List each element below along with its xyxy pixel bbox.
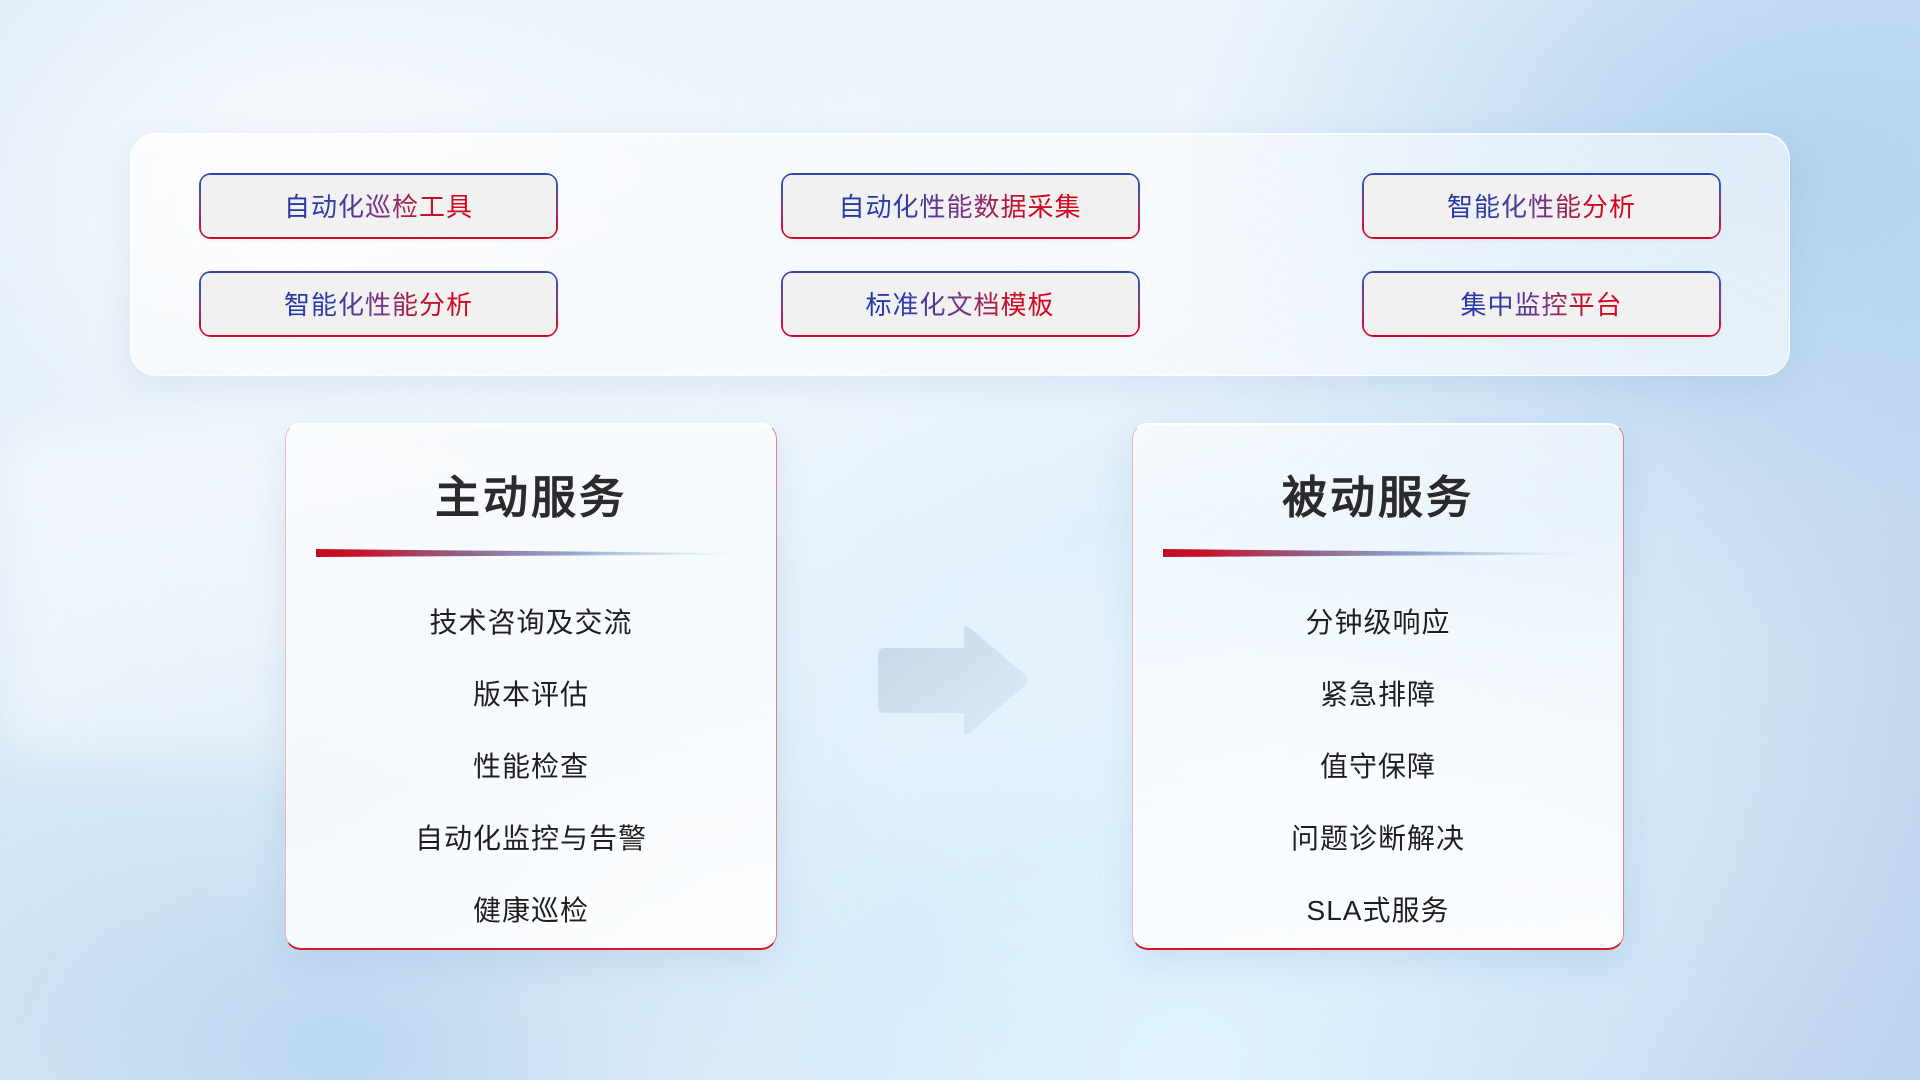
list-item: 问题诊断解决 [1133,803,1623,875]
capability-pill-label: 标准化文档模板 [865,285,1054,322]
capability-pill-standardized-document-template[interactable]: 标准化文档模板 [781,271,1140,337]
card-title-divider [316,548,746,557]
service-card-proactive: 主动服务 技术咨询及交流 版本评估 性能检查 自动化监控与告警 健康巡检 [285,423,777,950]
capability-pill-intelligent-performance-analysis-a[interactable]: 智能化性能分析 [1362,173,1721,239]
capability-panel: 自动化巡检工具 自动化性能数据采集 智能化性能分析 智能化性能分析 标准化文档模… [130,133,1790,376]
list-item: 版本评估 [286,659,776,731]
capability-pill-label: 智能化性能分析 [1447,187,1636,224]
list-item: SLA式服务 [1133,875,1623,947]
card-title-divider [1163,548,1593,557]
card-title: 被动服务 [1133,461,1623,526]
capability-pill-centralized-monitoring-platform[interactable]: 集中监控平台 [1362,271,1721,337]
capability-pill-intelligent-performance-analysis-b[interactable]: 智能化性能分析 [199,271,558,337]
card-title: 主动服务 [286,461,776,526]
list-item: 紧急排障 [1133,659,1623,731]
list-item: 自动化监控与告警 [286,803,776,875]
list-item: 性能检查 [286,731,776,803]
arrow-right-icon [872,622,1032,742]
capability-row-2: 智能化性能分析 标准化文档模板 集中监控平台 [199,271,1721,337]
capability-pill-automated-inspection-tool[interactable]: 自动化巡检工具 [199,173,558,239]
capability-pill-label: 智能化性能分析 [284,285,473,322]
capability-row-1: 自动化巡检工具 自动化性能数据采集 智能化性能分析 [199,173,1721,239]
capability-pill-label: 集中监控平台 [1460,285,1622,322]
list-item: 分钟级响应 [1133,587,1623,659]
service-card-reactive: 被动服务 分钟级响应 紧急排障 值守保障 问题诊断解决 SLA式服务 [1132,423,1624,950]
list-item: 值守保障 [1133,731,1623,803]
list-item: 技术咨询及交流 [286,587,776,659]
list-item: 健康巡检 [286,875,776,947]
card-item-list: 分钟级响应 紧急排障 值守保障 问题诊断解决 SLA式服务 [1133,587,1623,947]
card-item-list: 技术咨询及交流 版本评估 性能检查 自动化监控与告警 健康巡检 [286,587,776,947]
capability-pill-label: 自动化性能数据采集 [838,187,1081,224]
capability-pill-automated-performance-data-collection[interactable]: 自动化性能数据采集 [781,173,1140,239]
capability-pill-label: 自动化巡检工具 [284,187,473,224]
